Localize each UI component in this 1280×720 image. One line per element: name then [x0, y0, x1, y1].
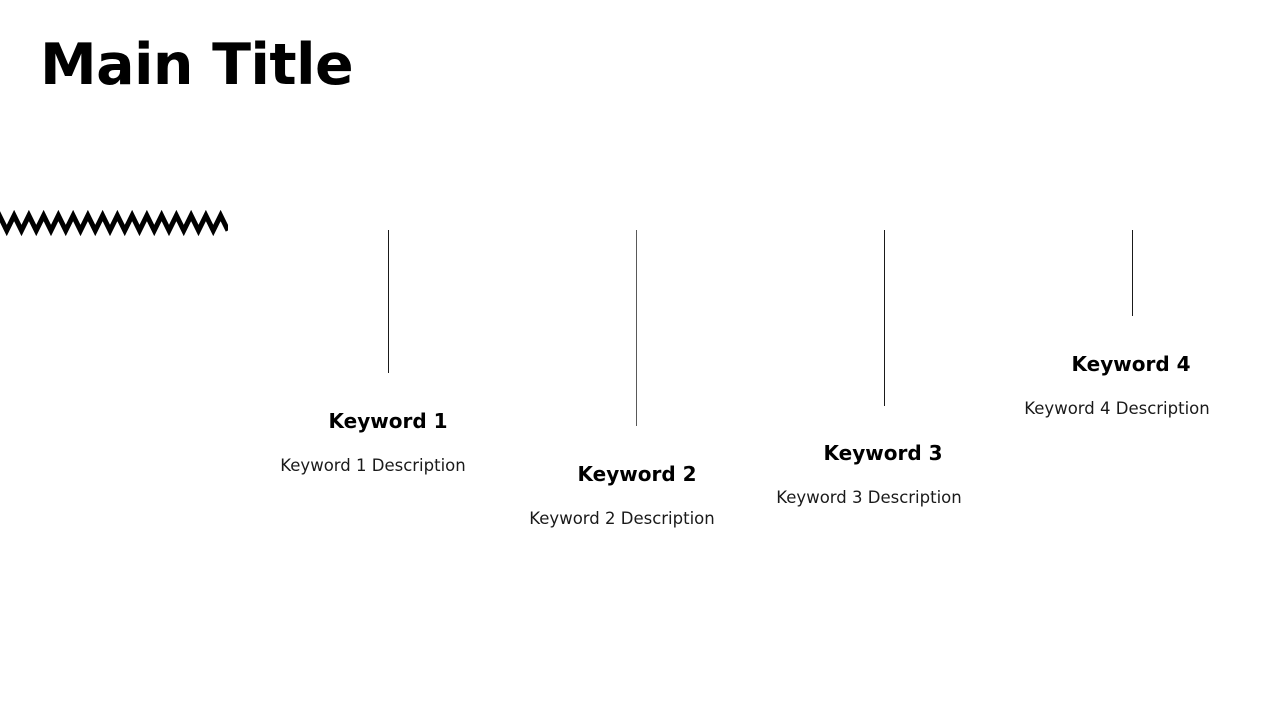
timeline-keyword-description-3: Keyword 3 Description [669, 488, 1069, 508]
timeline-keyword-title-1: Keyword 1 [188, 409, 588, 433]
timeline-connector-line-2 [636, 230, 637, 426]
timeline-connector-line-4 [1132, 230, 1133, 316]
timeline-connector-line-3 [884, 230, 885, 406]
page-title: Main Title [40, 34, 353, 97]
timeline-keyword-description-2: Keyword 2 Description [422, 509, 822, 529]
timeline-keyword-title-4: Keyword 4 [931, 352, 1280, 376]
timeline-keyword-title-2: Keyword 2 [437, 462, 837, 486]
zigzag-divider-icon [0, 210, 228, 236]
timeline-keyword-description-4: Keyword 4 Description [917, 399, 1280, 419]
timeline-keyword-title-3: Keyword 3 [683, 441, 1083, 465]
timeline-connector-line-1 [388, 230, 389, 373]
slide-canvas: Main Title Keyword 1Keyword 1 Descriptio… [0, 0, 1280, 720]
